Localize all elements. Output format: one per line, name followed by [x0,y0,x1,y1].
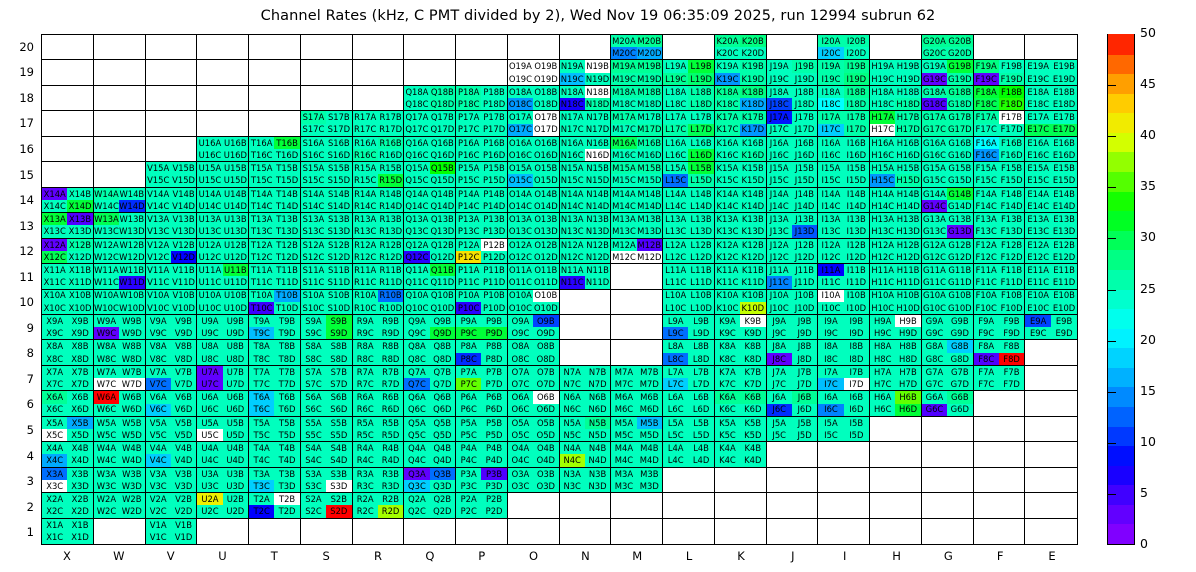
pmt-channel-O18A[interactable]: O18A [508,86,533,98]
pmt-channel-U4A[interactable]: U4A [197,442,222,454]
pmt-channel-I17B[interactable]: I17B [844,111,869,123]
pmt-channel-X6A[interactable]: X6A [42,391,67,403]
pmt-channel-U16B[interactable]: U16B [223,137,248,149]
pmt-channel-R14B[interactable]: R14B [378,188,403,200]
grid-cell-Q7[interactable]: Q7AQ7BQ7CQ7D [404,366,456,391]
grid-cell-G10[interactable]: G10AG10BG10CG10D [922,290,974,315]
pmt-channel-F15D[interactable]: F15D [999,174,1024,186]
grid-cell-R18[interactable] [353,86,405,111]
grid-cell-V7[interactable]: V7AV7BV7CV7D [146,366,198,391]
pmt-channel-L10B[interactable]: L10B [688,290,713,302]
grid-cell-X10[interactable]: X10AX10BX10CX10D [42,290,94,315]
pmt-channel-R12A[interactable]: R12A [353,239,378,251]
pmt-channel-N19D[interactable]: N19D [585,73,610,85]
grid-cell-O4[interactable]: O4AO4BO4CO4D [508,442,560,467]
grid-cell-S6[interactable]: S6AS6BS6CS6D [301,391,353,416]
pmt-channel-P6D[interactable]: P6D [481,404,506,416]
pmt-channel-N14C[interactable]: N14C [560,200,585,212]
pmt-channel-K9D[interactable]: K9D [740,327,765,339]
grid-cell-P15[interactable]: P15AP15BP15CP15D [456,162,508,187]
pmt-channel-R6B[interactable]: R6B [378,391,403,403]
pmt-channel-E14B[interactable]: E14B [1051,188,1077,200]
pmt-channel-O7B[interactable]: O7B [533,366,558,378]
pmt-channel-T16A[interactable]: T16A [249,137,274,149]
pmt-channel-L9A[interactable]: L9A [663,315,688,327]
pmt-channel-P4D[interactable]: P4D [481,454,506,466]
grid-cell-V15[interactable]: V15AV15BV15CV15D [146,162,198,187]
pmt-channel-S2D[interactable]: S2D [326,505,351,517]
grid-cell-L4[interactable]: L4AL4BL4CL4D [663,442,715,467]
grid-cell-O14[interactable]: O14AO14BO14CO14D [508,188,560,213]
pmt-channel-O17A[interactable]: O17A [508,111,533,123]
grid-cell-P17[interactable]: P17AP17BP17CP17D [456,111,508,136]
grid-cell-O2[interactable] [508,493,560,518]
grid-cell-E7[interactable] [1025,366,1077,391]
pmt-channel-V13A[interactable]: V13A [146,213,171,225]
pmt-channel-R2A[interactable]: R2A [353,493,378,505]
pmt-channel-T5D[interactable]: T5D [274,429,299,441]
pmt-channel-T8B[interactable]: T8B [274,340,299,352]
pmt-channel-G16A[interactable]: G16A [922,137,947,149]
pmt-channel-P15B[interactable]: P15B [481,162,506,174]
pmt-channel-L15B[interactable]: L15B [688,162,713,174]
pmt-channel-G8C[interactable]: G8C [922,353,947,365]
grid-cell-V17[interactable] [146,111,198,136]
grid-cell-W19[interactable] [94,60,146,85]
pmt-channel-I12A[interactable]: I12A [818,239,843,251]
grid-cell-X6[interactable]: X6AX6BX6CX6D [42,391,94,416]
pmt-channel-K16B[interactable]: K16B [740,137,765,149]
pmt-channel-Q16A[interactable]: Q16A [404,137,429,149]
pmt-channel-W14D[interactable]: W14D [119,200,144,212]
pmt-channel-M14C[interactable]: M14C [611,200,636,212]
pmt-channel-K5D[interactable]: K5D [740,429,765,441]
pmt-channel-W9D[interactable]: W9D [119,327,144,339]
pmt-channel-O12B[interactable]: O12B [533,239,558,251]
grid-cell-U17[interactable] [197,111,249,136]
pmt-channel-P10D[interactable]: P10D [481,302,506,314]
pmt-channel-N17C[interactable]: N17C [560,124,585,136]
pmt-channel-N17B[interactable]: N17B [585,111,610,123]
grid-cell-M17[interactable]: M17AM17BM17CM17D [611,111,663,136]
pmt-channel-K5B[interactable]: K5B [740,417,765,429]
pmt-channel-U8D[interactable]: U8D [223,353,248,365]
pmt-channel-P10C[interactable]: P10C [456,302,481,314]
grid-cell-R10[interactable]: R10AR10BR10CR10D [353,290,405,315]
pmt-channel-F15A[interactable]: F15A [974,162,999,174]
pmt-channel-H7B[interactable]: H7B [895,366,920,378]
pmt-channel-J12C[interactable]: J12C [767,251,792,263]
pmt-channel-U4B[interactable]: U4B [223,442,248,454]
pmt-channel-W13C[interactable]: W13C [94,225,119,237]
pmt-channel-G6D[interactable]: G6D [947,404,972,416]
pmt-channel-X7A[interactable]: X7A [42,366,67,378]
pmt-channel-J14D[interactable]: J14D [792,200,817,212]
grid-cell-P3[interactable]: P3AP3BP3CP3D [456,468,508,493]
grid-cell-S12[interactable]: S12AS12BS12CS12D [301,239,353,264]
pmt-channel-I10A[interactable]: I10A [818,290,843,302]
pmt-channel-H7D[interactable]: H7D [895,378,920,390]
pmt-channel-F7A[interactable]: F7A [974,366,999,378]
pmt-channel-J9C[interactable]: J9C [767,327,792,339]
grid-cell-R6[interactable]: R6AR6BR6CR6D [353,391,405,416]
pmt-channel-Q16B[interactable]: Q16B [430,137,455,149]
pmt-channel-H13C[interactable]: H13C [870,225,895,237]
pmt-channel-K6A[interactable]: K6A [715,391,740,403]
grid-cell-I3[interactable] [818,468,870,493]
pmt-channel-G12C[interactable]: G12C [922,251,947,263]
pmt-channel-T2A[interactable]: T2A [249,493,274,505]
pmt-channel-W6D[interactable]: W6D [119,404,144,416]
pmt-channel-W11B[interactable]: W11B [119,264,144,276]
pmt-channel-X3D[interactable]: X3D [67,480,92,492]
pmt-channel-S9A[interactable]: S9A [301,315,326,327]
pmt-channel-T13C[interactable]: T13C [249,225,274,237]
pmt-channel-L8D[interactable]: L8D [688,353,713,365]
pmt-channel-N6B[interactable]: N6B [585,391,610,403]
pmt-channel-I16D[interactable]: I16D [844,149,869,161]
pmt-channel-G12A[interactable]: G12A [922,239,947,251]
pmt-channel-T15C[interactable]: T15C [249,174,274,186]
pmt-channel-L18B[interactable]: L18B [688,86,713,98]
pmt-channel-F9B[interactable]: F9B [999,315,1024,327]
grid-cell-U14[interactable]: U14AU14BU14CU14D [197,188,249,213]
pmt-channel-G12D[interactable]: G12D [947,251,972,263]
pmt-channel-E18D[interactable]: E18D [1051,98,1077,110]
grid-cell-U20[interactable] [197,35,249,60]
pmt-channel-L11C[interactable]: L11C [663,276,688,288]
pmt-channel-L4B[interactable]: L4B [688,442,713,454]
pmt-channel-X4C[interactable]: X4C [42,454,67,466]
pmt-channel-E11D[interactable]: E11D [1051,276,1077,288]
pmt-channel-V8A[interactable]: V8A [146,340,171,352]
grid-cell-S9[interactable]: S9AS9BS9CS9D [301,315,353,340]
pmt-channel-R13C[interactable]: R13C [353,225,378,237]
grid-cell-M14[interactable]: M14AM14BM14CM14D [611,188,663,213]
grid-cell-F16[interactable]: F16AF16BF16CF16D [974,137,1026,162]
pmt-channel-N7B[interactable]: N7B [585,366,610,378]
pmt-channel-M17D[interactable]: M17D [637,124,662,136]
pmt-channel-M7B[interactable]: M7B [637,366,662,378]
pmt-channel-N15C[interactable]: N15C [560,174,585,186]
pmt-channel-H9B[interactable]: H9B [895,315,920,327]
heatmap-plot-area[interactable]: M20AM20BM20CM20DK20AK20BK20CK20DI20AI20B… [41,34,1078,545]
pmt-channel-K20B[interactable]: K20B [740,35,765,47]
grid-cell-K6[interactable]: K6AK6BK6CK6D [715,391,767,416]
pmt-channel-N6D[interactable]: N6D [585,404,610,416]
pmt-channel-W4D[interactable]: W4D [119,454,144,466]
pmt-channel-X12B[interactable]: X12B [67,239,92,251]
pmt-channel-R6D[interactable]: R6D [378,404,403,416]
grid-cell-K2[interactable] [715,493,767,518]
pmt-channel-G7D[interactable]: G7D [947,378,972,390]
grid-cell-F7[interactable]: F7AF7BF7CF7D [974,366,1026,391]
grid-cell-R1[interactable] [353,519,405,544]
pmt-channel-I19C[interactable]: I19C [818,73,843,85]
grid-cell-V18[interactable] [146,86,198,111]
pmt-channel-L8C[interactable]: L8C [663,353,688,365]
pmt-channel-G20B[interactable]: G20B [947,35,972,47]
pmt-channel-V6A[interactable]: V6A [146,391,171,403]
grid-cell-T2[interactable]: T2AT2BT2CT2D [249,493,301,518]
pmt-channel-F7C[interactable]: F7C [974,378,999,390]
pmt-channel-N13D[interactable]: N13D [585,225,610,237]
pmt-channel-S12C[interactable]: S12C [301,251,326,263]
pmt-channel-X6D[interactable]: X6D [67,404,92,416]
pmt-channel-F18C[interactable]: F18C [974,98,999,110]
grid-cell-V5[interactable]: V5AV5BV5CV5D [146,417,198,442]
grid-cell-H12[interactable]: H12AH12BH12CH12D [870,239,922,264]
pmt-channel-O10C[interactable]: O10C [508,302,533,314]
grid-cell-T13[interactable]: T13AT13BT13CT13D [249,213,301,238]
pmt-channel-S13C[interactable]: S13C [301,225,326,237]
pmt-channel-K14C[interactable]: K14C [715,200,740,212]
grid-cell-O12[interactable]: O12AO12BO12CO12D [508,239,560,264]
pmt-channel-V13C[interactable]: V13C [146,225,171,237]
pmt-channel-J13B[interactable]: J13B [792,213,817,225]
pmt-channel-J18C[interactable]: J18C [767,98,792,110]
pmt-channel-Q8A[interactable]: Q8A [404,340,429,352]
pmt-channel-P8B[interactable]: P8B [481,340,506,352]
pmt-channel-P5D[interactable]: P5D [481,429,506,441]
pmt-channel-G18B[interactable]: G18B [947,86,972,98]
pmt-channel-S16D[interactable]: S16D [326,149,351,161]
pmt-channel-N16B[interactable]: N16B [585,137,610,149]
pmt-channel-E15A[interactable]: E15A [1025,162,1051,174]
pmt-channel-Q11D[interactable]: Q11D [430,276,455,288]
pmt-channel-U3D[interactable]: U3D [223,480,248,492]
pmt-channel-U16A[interactable]: U16A [197,137,222,149]
pmt-channel-G11B[interactable]: G11B [947,264,972,276]
pmt-channel-Q14D[interactable]: Q14D [430,200,455,212]
pmt-channel-I8A[interactable]: I8A [818,340,843,352]
pmt-channel-G8A[interactable]: G8A [922,340,947,352]
pmt-channel-N13C[interactable]: N13C [560,225,585,237]
pmt-channel-T12A[interactable]: T12A [249,239,274,251]
grid-cell-F14[interactable]: F14AF14BF14CF14D [974,188,1026,213]
grid-cell-V10[interactable]: V10AV10BV10CV10D [146,290,198,315]
pmt-channel-L17C[interactable]: L17C [663,124,688,136]
grid-cell-V3[interactable]: V3AV3BV3CV3D [146,468,198,493]
pmt-channel-I16B[interactable]: I16B [844,137,869,149]
pmt-channel-X3C[interactable]: X3C [42,480,67,492]
pmt-channel-L14C[interactable]: L14C [663,200,688,212]
pmt-channel-E9B[interactable]: E9B [1051,315,1077,327]
grid-cell-L2[interactable] [663,493,715,518]
pmt-channel-T16D[interactable]: T16D [274,149,299,161]
grid-cell-Q17[interactable]: Q17AQ17BQ17CQ17D [404,111,456,136]
grid-cell-L7[interactable]: L7AL7BL7CL7D [663,366,715,391]
pmt-channel-U3B[interactable]: U3B [223,468,248,480]
pmt-channel-R17D[interactable]: R17D [378,124,403,136]
pmt-channel-U4D[interactable]: U4D [223,454,248,466]
pmt-channel-I9D[interactable]: I9D [844,327,869,339]
pmt-channel-I15A[interactable]: I15A [818,162,843,174]
pmt-channel-K10C[interactable]: K10C [715,302,740,314]
pmt-channel-F8A[interactable]: F8A [974,340,999,352]
pmt-channel-N5C[interactable]: N5C [560,429,585,441]
grid-cell-M5[interactable]: M5AM5BM5CM5D [611,417,663,442]
pmt-channel-V10C[interactable]: V10C [146,302,171,314]
pmt-channel-J11C[interactable]: J11C [767,276,792,288]
pmt-channel-U6A[interactable]: U6A [197,391,222,403]
pmt-channel-H15A[interactable]: H15A [870,162,895,174]
pmt-channel-L7D[interactable]: L7D [688,378,713,390]
pmt-channel-R5D[interactable]: R5D [378,429,403,441]
pmt-channel-X10B[interactable]: X10B [67,290,92,302]
grid-cell-K12[interactable]: K12AK12BK12CK12D [715,239,767,264]
pmt-channel-O8C[interactable]: O8C [508,353,533,365]
pmt-channel-P17A[interactable]: P17A [456,111,481,123]
pmt-channel-G17A[interactable]: G17A [922,111,947,123]
pmt-channel-R5B[interactable]: R5B [378,417,403,429]
grid-cell-J13[interactable]: J13AJ13BJ13CJ13D [767,213,819,238]
grid-cell-O15[interactable]: O15AO15BO15CO15D [508,162,560,187]
pmt-channel-H9C[interactable]: H9C [870,327,895,339]
grid-cell-R7[interactable]: R7AR7BR7CR7D [353,366,405,391]
pmt-channel-G16D[interactable]: G16D [947,149,972,161]
pmt-channel-T2D[interactable]: T2D [274,505,299,517]
pmt-channel-P15C[interactable]: P15C [456,174,481,186]
pmt-channel-M19D[interactable]: M19D [637,73,662,85]
pmt-channel-H18C[interactable]: H18C [870,98,895,110]
pmt-channel-W3A[interactable]: W3A [94,468,119,480]
pmt-channel-L16D[interactable]: L16D [688,149,713,161]
grid-cell-P2[interactable]: P2AP2BP2CP2D [456,493,508,518]
grid-cell-F11[interactable]: F11AF11BF11CF11D [974,264,1026,289]
pmt-channel-P12D[interactable]: P12D [481,251,506,263]
pmt-channel-G6C[interactable]: G6C [922,404,947,416]
pmt-channel-W5D[interactable]: W5D [119,429,144,441]
pmt-channel-W11D[interactable]: W11D [119,276,144,288]
grid-cell-U12[interactable]: U12AU12BU12CU12D [197,239,249,264]
pmt-channel-S5A[interactable]: S5A [301,417,326,429]
pmt-channel-L11A[interactable]: L11A [663,264,688,276]
pmt-channel-H13B[interactable]: H13B [895,213,920,225]
pmt-channel-T14D[interactable]: T14D [274,200,299,212]
pmt-channel-L13B[interactable]: L13B [688,213,713,225]
pmt-channel-V2B[interactable]: V2B [171,493,196,505]
grid-cell-O16[interactable]: O16AO16BO16CO16D [508,137,560,162]
pmt-channel-K20C[interactable]: K20C [715,47,740,59]
pmt-channel-U14B[interactable]: U14B [223,188,248,200]
pmt-channel-W4A[interactable]: W4A [94,442,119,454]
pmt-channel-G9A[interactable]: G9A [922,315,947,327]
grid-cell-T5[interactable]: T5AT5BT5CT5D [249,417,301,442]
pmt-channel-U12C[interactable]: U12C [197,251,222,263]
grid-cell-H11[interactable]: H11AH11BH11CH11D [870,264,922,289]
pmt-channel-M17B[interactable]: M17B [637,111,662,123]
pmt-channel-N18D[interactable]: N18D [585,98,610,110]
pmt-channel-Q7D[interactable]: Q7D [430,378,455,390]
grid-cell-K4[interactable]: K4AK4BK4CK4D [715,442,767,467]
grid-cell-F5[interactable] [974,417,1026,442]
pmt-channel-W2A[interactable]: W2A [94,493,119,505]
pmt-channel-T2C[interactable]: T2C [249,505,274,517]
grid-cell-Q11[interactable]: Q11AQ11BQ11CQ11D [404,264,456,289]
pmt-channel-M12C[interactable]: M12C [611,251,636,263]
pmt-channel-L14D[interactable]: L14D [688,200,713,212]
grid-cell-N6[interactable]: N6AN6BN6CN6D [560,391,612,416]
grid-cell-J19[interactable]: J19AJ19BJ19CJ19D [767,60,819,85]
grid-cell-Q6[interactable]: Q6AQ6BQ6CQ6D [404,391,456,416]
grid-cell-F2[interactable] [974,493,1026,518]
grid-cell-G2[interactable] [922,493,974,518]
grid-cell-Q9[interactable]: Q9AQ9BQ9CQ9D [404,315,456,340]
pmt-channel-L15D[interactable]: L15D [688,174,713,186]
pmt-channel-R8B[interactable]: R8B [378,340,403,352]
pmt-channel-O12A[interactable]: O12A [508,239,533,251]
pmt-channel-W11A[interactable]: W11A [94,264,119,276]
pmt-channel-K6D[interactable]: K6D [740,404,765,416]
pmt-channel-Q7A[interactable]: Q7A [404,366,429,378]
pmt-channel-X5A[interactable]: X5A [42,417,67,429]
pmt-channel-I16A[interactable]: I16A [818,137,843,149]
pmt-channel-T11D[interactable]: T11D [274,276,299,288]
pmt-channel-W8A[interactable]: W8A [94,340,119,352]
pmt-channel-M3A[interactable]: M3A [611,468,636,480]
grid-cell-V2[interactable]: V2AV2BV2CV2D [146,493,198,518]
grid-cell-E3[interactable] [1025,468,1077,493]
pmt-channel-F10C[interactable]: F10C [974,302,999,314]
grid-cell-N8[interactable] [560,340,612,365]
pmt-channel-E13B[interactable]: E13B [1051,213,1077,225]
pmt-channel-V2D[interactable]: V2D [171,505,196,517]
pmt-channel-O8D[interactable]: O8D [533,353,558,365]
pmt-channel-O16B[interactable]: O16B [533,137,558,149]
pmt-channel-O14A[interactable]: O14A [508,188,533,200]
pmt-channel-Q13A[interactable]: Q13A [404,213,429,225]
pmt-channel-Q3D[interactable]: Q3D [430,480,455,492]
pmt-channel-L19A[interactable]: L19A [663,60,688,72]
pmt-channel-W12B[interactable]: W12B [119,239,144,251]
grid-cell-X17[interactable] [42,111,94,136]
pmt-channel-E13C[interactable]: E13C [1025,225,1051,237]
pmt-channel-W6A[interactable]: W6A [94,391,119,403]
pmt-channel-J18D[interactable]: J18D [792,98,817,110]
pmt-channel-K12C[interactable]: K12C [715,251,740,263]
pmt-channel-K15C[interactable]: K15C [715,174,740,186]
pmt-channel-R7B[interactable]: R7B [378,366,403,378]
grid-cell-T6[interactable]: T6AT6BT6CT6D [249,391,301,416]
pmt-channel-Q18B[interactable]: Q18B [430,86,455,98]
grid-cell-L10[interactable]: L10AL10BL10CL10D [663,290,715,315]
pmt-channel-T5A[interactable]: T5A [249,417,274,429]
pmt-channel-O15C[interactable]: O15C [508,174,533,186]
grid-cell-J18[interactable]: J18AJ18BJ18CJ18D [767,86,819,111]
pmt-channel-X11D[interactable]: X11D [67,276,92,288]
grid-cell-H4[interactable] [870,442,922,467]
pmt-channel-X6B[interactable]: X6B [67,391,92,403]
grid-cell-N10[interactable] [560,290,612,315]
pmt-channel-O3C[interactable]: O3C [508,480,533,492]
pmt-channel-Q10A[interactable]: Q10A [404,290,429,302]
pmt-channel-N3B[interactable]: N3B [585,468,610,480]
pmt-channel-U4C[interactable]: U4C [197,454,222,466]
pmt-channel-I9A[interactable]: I9A [818,315,843,327]
pmt-channel-M6C[interactable]: M6C [611,404,636,416]
pmt-channel-H18D[interactable]: H18D [895,98,920,110]
grid-cell-M16[interactable]: M16AM16BM16CM16D [611,137,663,162]
pmt-channel-E16A[interactable]: E16A [1025,137,1051,149]
pmt-channel-S11A[interactable]: S11A [301,264,326,276]
pmt-channel-H19A[interactable]: H19A [870,60,895,72]
pmt-channel-U8A[interactable]: U8A [197,340,222,352]
pmt-channel-T14C[interactable]: T14C [249,200,274,212]
pmt-channel-E18B[interactable]: E18B [1051,86,1077,98]
pmt-channel-O17D[interactable]: O17D [533,124,558,136]
grid-cell-N20[interactable] [560,35,612,60]
